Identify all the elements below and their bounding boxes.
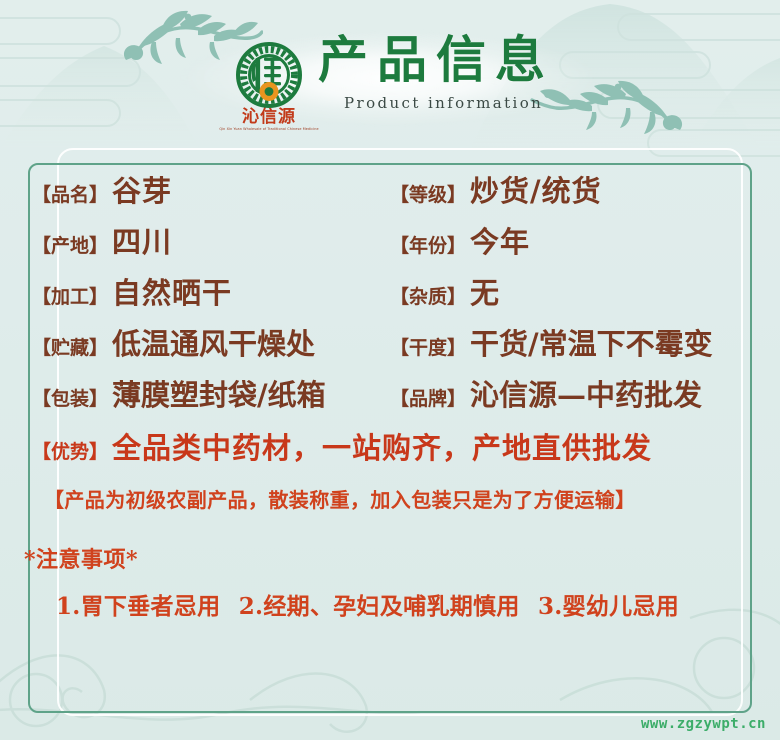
product-note-row: 【产品为初级农副产品，散装称重，加入包装只是为了方便运输】: [0, 474, 780, 522]
spec-row: 【产地】 四川 【年份】 今年: [0, 214, 780, 265]
spec-cell-storage: 【贮藏】 低温通风干燥处: [32, 321, 390, 363]
spec-value: 四川: [112, 219, 172, 261]
spec-cell-year: 【年份】 今年: [390, 219, 530, 261]
caution-heading-row: *注意事项*: [0, 522, 780, 578]
site-watermark: www.zgzywpt.cn: [641, 716, 766, 732]
spec-value: 薄膜塑封袋/纸箱: [112, 372, 326, 414]
logo-emblem-icon: [236, 42, 302, 108]
product-information-page: 沁信源 Qin Xin Yuan Wholesale of Traditiona…: [0, 0, 780, 740]
spec-label: 【干度】: [390, 333, 466, 360]
logo-subtitle-english: Qin Xin Yuan Wholesale of Traditional Ch…: [219, 128, 318, 132]
spec-row: 【品名】 谷芽 【等级】 炒货/统货: [0, 163, 780, 214]
spec-value: 炒货/统货: [470, 168, 602, 210]
spec-cell-advantage: 【优势】 全品类中药材，一站购齐，产地直供批发: [32, 425, 652, 467]
spec-cell-processing: 【加工】 自然晒干: [32, 270, 390, 312]
spec-cell-dryness: 【干度】 干货/常温下不霉变: [390, 321, 713, 363]
spec-cell-brand: 【品牌】 沁信源—中药批发: [390, 372, 702, 414]
spec-cell-impurity: 【杂质】 无: [390, 270, 500, 312]
logo-wordmark: 沁信源: [242, 109, 296, 126]
spec-value: 全品类中药材，一站购齐，产地直供批发: [112, 425, 652, 467]
spec-value: 今年: [470, 219, 530, 261]
page-subtitle: Product information: [344, 94, 554, 112]
caution-list-row: 1.胃下垂者忌用 2.经期、孕妇及哺乳期慎用 3.婴幼儿忌用: [0, 578, 780, 630]
spec-cell-grade: 【等级】 炒货/统货: [390, 168, 602, 210]
spec-label: 【年份】: [390, 231, 466, 258]
spec-label: 【贮藏】: [32, 333, 108, 360]
spec-label: 【品牌】: [390, 384, 466, 411]
spec-label: 【包装】: [32, 384, 108, 411]
spec-label: 【优势】: [32, 437, 108, 464]
spec-row-advantage: 【优势】 全品类中药材，一站购齐，产地直供批发: [0, 418, 780, 474]
spec-cell-packaging: 【包装】 薄膜塑封袋/纸箱: [32, 372, 390, 414]
page-title: 产品信息: [318, 34, 554, 87]
caution-item: 3.婴幼儿忌用: [538, 593, 679, 620]
spec-value: 干货/常温下不霉变: [470, 321, 713, 363]
spec-cell-origin: 【产地】 四川: [32, 219, 390, 261]
spec-value: 无: [470, 270, 500, 312]
spec-label: 【等级】: [390, 180, 466, 207]
spec-cell-name: 【品名】 谷芽: [32, 168, 390, 210]
product-note-text: 【产品为初级农副产品，散装称重，加入包装只是为了方便运输】: [44, 484, 636, 513]
spec-label: 【品名】: [32, 180, 108, 207]
brand-logo: 沁信源 Qin Xin Yuan Wholesale of Traditiona…: [225, 42, 313, 132]
spec-row: 【包装】 薄膜塑封袋/纸箱 【品牌】 沁信源—中药批发: [0, 367, 780, 418]
caution-item: 2.经期、孕妇及哺乳期慎用: [239, 593, 520, 620]
caution-heading: *注意事项*: [24, 542, 138, 574]
spec-value: 沁信源—中药批发: [470, 372, 702, 414]
spec-label: 【产地】: [32, 231, 108, 258]
spec-row: 【贮藏】 低温通风干燥处 【干度】 干货/常温下不霉变: [0, 316, 780, 367]
spec-value: 谷芽: [112, 168, 172, 210]
spec-row: 【加工】 自然晒干 【杂质】 无: [0, 265, 780, 316]
page-title-block: 产品信息 Product information: [318, 34, 554, 112]
spec-value: 自然晒干: [112, 270, 232, 312]
spec-label: 【杂质】: [390, 282, 466, 309]
page-header: 沁信源 Qin Xin Yuan Wholesale of Traditiona…: [0, 0, 780, 150]
caution-item: 1.胃下垂者忌用: [56, 593, 220, 620]
spec-value: 低温通风干燥处: [112, 321, 315, 363]
spec-content: 【品名】 谷芽 【等级】 炒货/统货 【产地】 四川 【年份】 今年 【加工】 …: [0, 163, 780, 630]
spec-label: 【加工】: [32, 282, 108, 309]
caution-items: 1.胃下垂者忌用 2.经期、孕妇及哺乳期慎用 3.婴幼儿忌用: [56, 587, 689, 621]
